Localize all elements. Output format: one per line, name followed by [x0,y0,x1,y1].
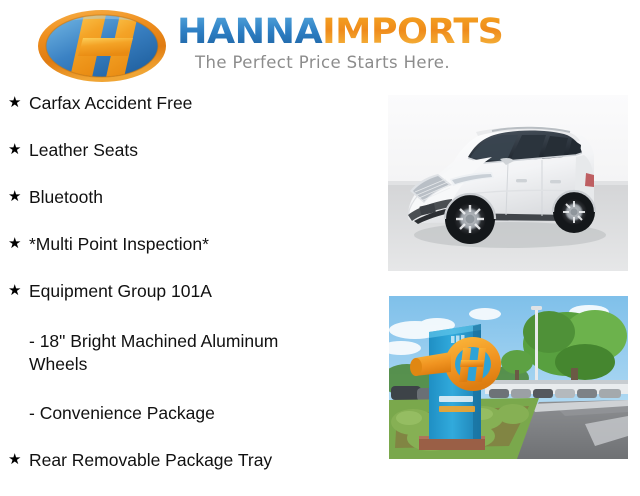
hanna-h-oval-logo-icon [33,8,171,84]
star-bullet-icon: ★ [8,233,29,255]
star-bullet-icon: ★ [8,92,29,114]
wordmark-hanna: HANNA [177,12,322,52]
brand-tagline: The Perfect Price Starts Here. [195,53,491,72]
feature-label: Rear Removable Package Tray [29,449,272,471]
brand-header: HANNAIMPORTS The Perfect Price Starts He… [0,0,640,90]
feature-item: ★ Bluetooth [0,186,382,233]
feature-item: ★ Leather Seats [0,139,382,186]
feature-label: Carfax Accident Free [29,92,192,114]
wordmark-imports: IMPORTS [322,12,503,52]
feature-label: *Multi Point Inspection* [29,233,209,255]
feature-label: Leather Seats [29,139,138,161]
feature-sub-item: - Convenience Package [0,400,329,449]
vehicle-features-list: ★ Carfax Accident Free ★ Leather Seats ★… [0,92,382,496]
star-bullet-icon: ★ [8,139,29,161]
feature-label: Bluetooth [29,186,103,208]
brand-logo-lockup[interactable]: HANNAIMPORTS The Perfect Price Starts He… [33,8,491,84]
brand-text-block: HANNAIMPORTS The Perfect Price Starts He… [177,8,491,72]
star-bullet-icon: ★ [8,186,29,208]
star-bullet-icon: ★ [8,449,29,471]
feature-item: ★ Equipment Group 101A [0,280,382,327]
feature-item: ★ Carfax Accident Free [0,92,382,139]
feature-item: ★ Rear Removable Package Tray [0,449,382,496]
feature-sub-item: - 18" Bright Machined Aluminum Wheels [0,327,329,400]
feature-item: ★ *Multi Point Inspection* [0,233,382,280]
star-bullet-icon: ★ [8,280,29,302]
feature-label: Equipment Group 101A [29,280,212,302]
dealership-photo[interactable] [389,296,628,459]
brand-wordmark: HANNAIMPORTS [177,14,503,50]
vehicle-photo[interactable] [388,95,628,271]
